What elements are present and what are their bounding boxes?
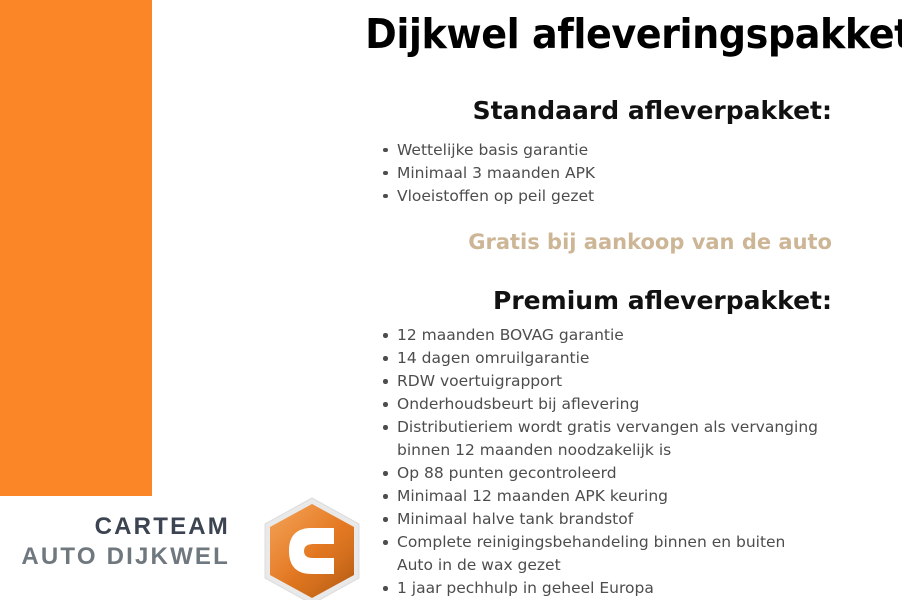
list-item-label: Minimaal halve tank brandstof — [397, 510, 633, 528]
carteam-hexagon-c-logo-icon — [256, 495, 368, 600]
list-item: Minimaal 3 maanden APK — [381, 162, 832, 185]
list-item-label: Onderhoudsbeurt bij aflevering — [397, 395, 639, 413]
list-item-label: Complete reinigingsbehandeling binnen en… — [397, 533, 785, 551]
list-item-label: Minimaal 12 maanden APK keuring — [397, 487, 668, 505]
bullet-dot-icon — [383, 402, 388, 407]
brand-name-auto-dijkwel: AUTO DIJKWEL — [0, 542, 230, 572]
standard-package-heading: Standaard afleverpakket: — [330, 97, 832, 125]
list-item-label: Minimaal 3 maanden APK — [397, 164, 595, 182]
list-item-label: Wettelijke basis garantie — [397, 141, 588, 159]
bullet-dot-icon — [383, 333, 388, 338]
list-item: Distributieriem wordt gratis vervangen a… — [381, 416, 832, 462]
list-item: Minimaal halve tank brandstof — [381, 508, 832, 531]
brand-block: CARTEAM AUTO DIJKWEL — [0, 512, 370, 600]
list-item-label: Auto in de wax gezet — [397, 556, 561, 574]
list-item: 14 dagen omruilgarantie — [381, 347, 832, 370]
list-item: Wettelijke basis garantie — [381, 139, 832, 162]
bullet-dot-icon — [383, 148, 388, 153]
standard-package-tagline: Gratis bij aankoop van de auto — [330, 231, 832, 254]
list-item-label: 1 jaar pechhulp in geheel Europa — [397, 579, 654, 597]
bullet-dot-icon — [383, 471, 388, 476]
list-item: Complete reinigingsbehandeling binnen en… — [381, 531, 832, 554]
list-item: Op 88 punten gecontroleerd — [381, 462, 832, 485]
list-item: Minimaal 12 maanden APK keuring — [381, 485, 832, 508]
list-item-label: Vloeistoffen op peil gezet — [397, 187, 594, 205]
list-item-label: 12 maanden BOVAG garantie — [397, 326, 624, 344]
bullet-dot-icon — [383, 171, 388, 176]
premium-package-list: 12 maanden BOVAG garantie 14 dagen omrui… — [381, 324, 832, 600]
page-title: Dijkwel afleveringspakketten — [365, 0, 832, 56]
list-item-continuation: Auto in de wax gezet — [381, 554, 832, 577]
bullet-dot-icon — [383, 194, 388, 199]
premium-package-heading: Premium afleverpakket: — [330, 287, 832, 315]
list-item: 1 jaar pechhulp in geheel Europa — [381, 577, 832, 600]
poster-content-column: Dijkwel afleveringspakketten Standaard a… — [330, 0, 832, 600]
list-item-label: RDW voertuigrapport — [397, 372, 562, 390]
list-item: Onderhoudsbeurt bij aflevering — [381, 393, 832, 416]
bullet-dot-icon — [383, 494, 388, 499]
orange-side-panel — [0, 0, 152, 496]
list-item: Vloeistoffen op peil gezet — [381, 185, 832, 208]
brand-name-carteam: CARTEAM — [0, 512, 230, 542]
bullet-dot-icon — [383, 517, 388, 522]
bullet-dot-icon — [383, 540, 388, 545]
bullet-dot-icon — [383, 586, 388, 591]
list-item-label: Distributieriem wordt gratis vervangen a… — [397, 418, 818, 459]
list-item-label: Op 88 punten gecontroleerd — [397, 464, 617, 482]
brand-wordmark: CARTEAM AUTO DIJKWEL — [0, 512, 230, 572]
list-item-label: 14 dagen omruilgarantie — [397, 349, 589, 367]
bullet-dot-icon — [383, 425, 388, 430]
bullet-dot-icon — [383, 356, 388, 361]
list-item: RDW voertuigrapport — [381, 370, 832, 393]
standard-package-list: Wettelijke basis garantie Minimaal 3 maa… — [381, 139, 832, 208]
poster-canvas: Dijkwel afleveringspakketten Standaard a… — [0, 0, 902, 600]
list-item: 12 maanden BOVAG garantie — [381, 324, 832, 347]
bullet-dot-icon — [383, 379, 388, 384]
